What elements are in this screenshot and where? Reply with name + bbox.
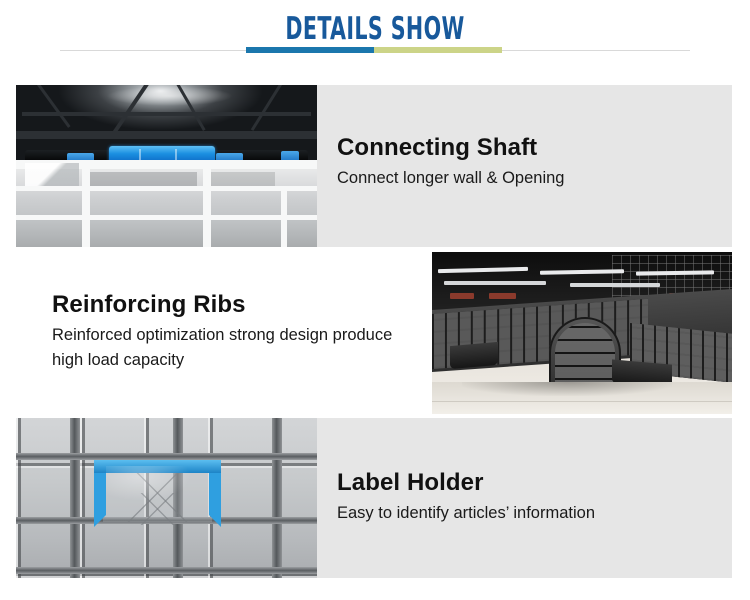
photo-rib	[203, 160, 211, 247]
feature-subtitle-line1: Reinforced optimization strong design pr…	[52, 323, 392, 348]
header-accent-bar	[246, 47, 502, 53]
photo-vertical-rib	[70, 418, 80, 578]
feature-text-reinforcing-ribs: Reinforcing Ribs Reinforced optimization…	[52, 290, 392, 373]
accent-bar-blue-segment	[246, 47, 374, 53]
feature-title: Reinforcing Ribs	[52, 290, 392, 320]
photo-beam	[251, 85, 284, 130]
photo-diagonal-panel	[25, 163, 79, 186]
photo-beam	[22, 112, 311, 116]
feature-text-label-holder: Label Holder Easy to identify articles’ …	[337, 468, 595, 526]
photo-red-marker	[489, 293, 516, 299]
photo-floor-seam	[432, 401, 732, 402]
feature-title: Connecting Shaft	[337, 133, 564, 163]
photo-white-slat	[444, 281, 546, 285]
feature-row-label-holder: Label Holder Easy to identify articles’ …	[16, 418, 732, 578]
photo-rib	[16, 215, 317, 220]
photo-highlight	[106, 86, 232, 105]
connecting-shaft-photo	[16, 85, 317, 247]
feature-row-reinforcing-ribs: Reinforcing Ribs Reinforced optimization…	[16, 252, 732, 414]
feature-text-connecting-shaft: Connecting Shaft Connect longer wall & O…	[337, 133, 564, 191]
reinforcing-ribs-photo	[432, 252, 732, 414]
feature-subtitle: Easy to identify articles’ information	[337, 501, 595, 526]
feature-row-connecting-shaft: Connecting Shaft Connect longer wall & O…	[16, 85, 732, 247]
photo-floor-shadow	[462, 382, 672, 397]
accent-bar-green-segment	[374, 47, 502, 53]
photo-rib	[281, 186, 287, 247]
photo-gloss-highlight	[106, 466, 190, 501]
feature-subtitle-line2: high load capacity	[52, 348, 392, 373]
photo-rib	[82, 160, 90, 247]
photo-vertical-rib	[272, 418, 282, 578]
page-title: DETAILS SHOW	[98, 14, 653, 45]
photo-rib	[16, 186, 317, 191]
page-header: DETAILS SHOW	[0, 0, 750, 72]
feature-subtitle: Connect longer wall & Opening	[337, 166, 564, 191]
photo-white-slat	[570, 283, 660, 287]
feature-title: Label Holder	[337, 468, 595, 498]
photo-beam	[16, 131, 317, 139]
photo-container-wall	[16, 160, 317, 247]
photo-pallet-foot	[450, 342, 498, 369]
photo-beam	[34, 85, 71, 128]
photo-horizontal-rib	[16, 567, 317, 574]
photo-red-marker	[450, 293, 474, 299]
label-holder-photo	[16, 418, 317, 578]
